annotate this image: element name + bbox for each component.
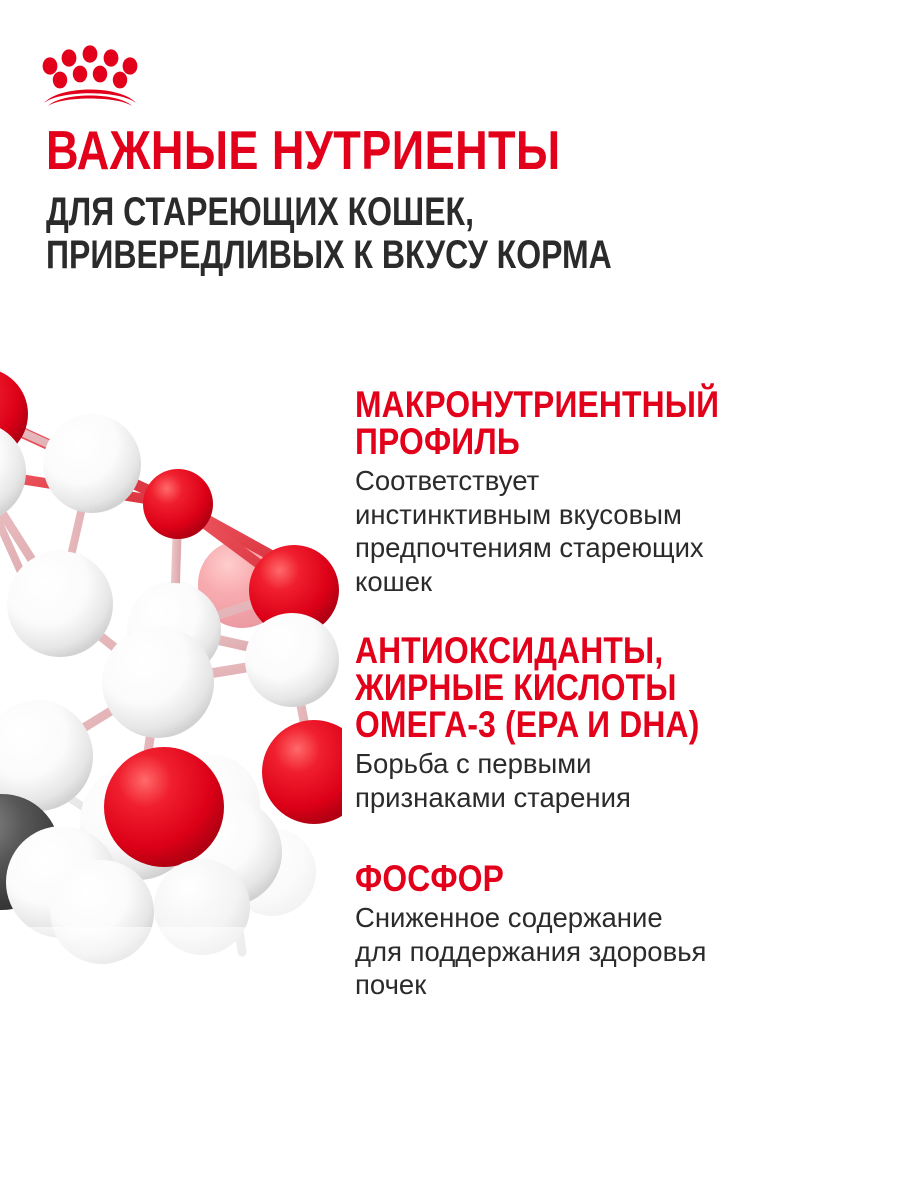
page-subtitle: ДЛЯ СТАРЕЮЩИХ КОШЕК, ПРИВЕРЕДЛИВЫХ К ВКУ… bbox=[46, 191, 686, 277]
feature-title-antioxidants: АНТИОКСИДАНТЫ, ЖИРНЫЕ КИСЛОТЫ ОМЕГА-3 (E… bbox=[355, 632, 802, 743]
feature-title-macronutrient: МАКРОНУТРИЕНТНЫЙ ПРОФИЛЬ bbox=[355, 386, 802, 460]
page-subtitle-line-2: ПРИВЕРЕДЛИВЫХ К ВКУСУ КОРМА bbox=[46, 234, 686, 277]
feature-item-macronutrient: МАКРОНУТРИЕНТНЫЙ ПРОФИЛЬ Соответствует и… bbox=[355, 386, 875, 598]
molecule-illustration bbox=[0, 352, 342, 972]
feature-body-antioxidants: Борьба с первыми признаками старения bbox=[355, 747, 875, 814]
header-text-block: ВАЖНЫЕ НУТРИЕНТЫ ДЛЯ СТАРЕЮЩИХ КОШЕК, ПР… bbox=[46, 124, 846, 277]
feature-title-phosphorus: ФОСФОР bbox=[355, 860, 802, 897]
feature-list: МАКРОНУТРИЕНТНЫЙ ПРОФИЛЬ Соответствует и… bbox=[355, 386, 875, 1002]
feature-body-macronutrient: Соответствует инстинктивным вкусовым пре… bbox=[355, 464, 875, 598]
royal-canin-logo bbox=[42, 44, 138, 106]
feature-item-phosphorus: ФОСФОР Сниженное содержание для поддержа… bbox=[355, 860, 875, 1002]
molecule-back-layer bbox=[0, 414, 316, 916]
molecule-svg bbox=[0, 352, 342, 972]
molecule-bonds bbox=[0, 414, 314, 952]
molecule-mid-spheres bbox=[7, 415, 339, 677]
page-subtitle-line-1: ДЛЯ СТАРЕЮЩИХ КОШЕК, bbox=[46, 191, 686, 234]
feature-item-antioxidants: АНТИОКСИДАНТЫ, ЖИРНЫЕ КИСЛОТЫ ОМЕГА-3 (E… bbox=[355, 632, 875, 814]
molecule-front-spheres bbox=[0, 368, 342, 964]
page-title: ВАЖНЫЕ НУТРИЕНТЫ bbox=[46, 124, 702, 177]
crown-icon bbox=[42, 44, 138, 106]
feature-body-phosphorus: Сниженное содержание для поддержания здо… bbox=[355, 901, 875, 1002]
